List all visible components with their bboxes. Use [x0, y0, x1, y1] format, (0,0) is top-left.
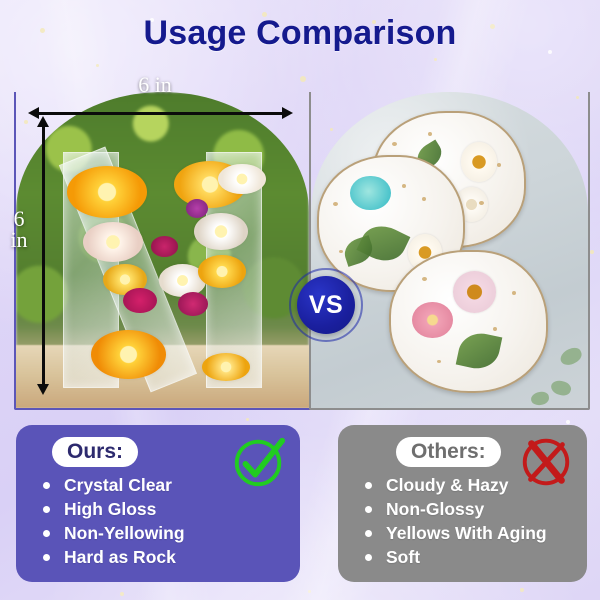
others-comparison-card: Others: Cloudy & Hazy Non-Glossy Yellows…	[338, 425, 587, 582]
width-dimension-label: 6 in	[110, 74, 200, 95]
green-check-circle-icon	[230, 433, 288, 491]
width-arrow-right	[282, 107, 293, 119]
list-item: Soft	[352, 545, 573, 569]
vs-label: VS	[297, 276, 355, 334]
bullet-icon	[365, 506, 372, 513]
bullet-icon	[365, 482, 372, 489]
coaster-bottom	[389, 250, 548, 393]
feature-text: Non-Yellowing	[64, 523, 185, 543]
page-title: Usage Comparison	[0, 14, 600, 53]
list-item: Hard as Rock	[30, 545, 286, 569]
feature-text: Yellows With Aging	[386, 523, 547, 543]
ours-comparison-card: Ours: Crystal Clear High Gloss Non-Yello…	[16, 425, 300, 582]
bullet-icon	[43, 506, 50, 513]
list-item: High Gloss	[30, 497, 286, 521]
red-cross-circle-icon	[517, 433, 575, 491]
height-arrow-top	[37, 116, 49, 127]
height-arrow-bottom	[37, 384, 49, 395]
width-dimension-line	[38, 112, 284, 115]
height-dimension-label: 6 in	[2, 208, 36, 250]
list-item: Yellows With Aging	[352, 521, 573, 545]
height-dimension-value: 6	[2, 208, 36, 229]
others-label: Others:	[396, 437, 501, 467]
feature-text: Soft	[386, 547, 420, 567]
cloudy-resin-coasters-photo	[309, 92, 590, 410]
list-item: Non-Glossy	[352, 497, 573, 521]
vs-badge: VS	[289, 268, 363, 342]
height-dimension-unit: in	[2, 229, 36, 250]
list-item: Non-Yellowing	[30, 521, 286, 545]
resin-letter-n	[63, 152, 262, 386]
bullet-icon	[43, 554, 50, 561]
clear-resin-letter-photo	[14, 92, 311, 410]
bullet-icon	[365, 530, 372, 537]
ours-label: Ours:	[52, 437, 138, 467]
height-dimension-line	[42, 126, 45, 386]
feature-text: Hard as Rock	[64, 547, 176, 567]
feature-text: Cloudy & Hazy	[386, 475, 509, 495]
bullet-icon	[43, 530, 50, 537]
bullet-icon	[365, 554, 372, 561]
feature-text: High Gloss	[64, 499, 156, 519]
bullet-icon	[43, 482, 50, 489]
feature-text: Non-Glossy	[386, 499, 484, 519]
feature-text: Crystal Clear	[64, 475, 172, 495]
comparison-infographic: Usage Comparison	[0, 0, 600, 600]
